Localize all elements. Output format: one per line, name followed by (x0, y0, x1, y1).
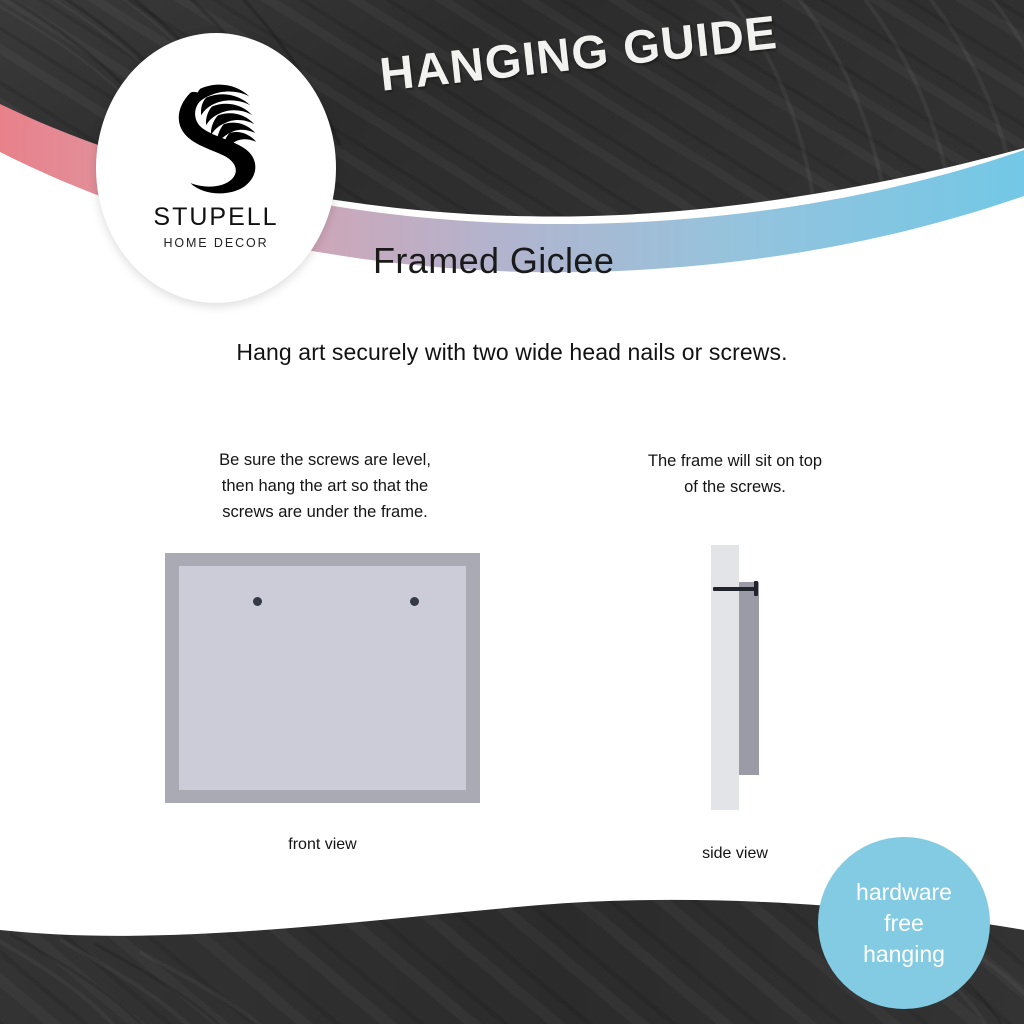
nail-shaft-icon (713, 587, 757, 591)
front-view-frame-diagram (165, 553, 480, 803)
brand-name: STUPELL (153, 203, 278, 232)
badge-line-1: hardware (856, 877, 952, 908)
stupell-swoosh-icon (157, 71, 275, 197)
nail-head-icon (754, 581, 758, 596)
side-caption-line-1: The frame will sit on top (610, 448, 860, 474)
side-view-diagram (700, 545, 820, 815)
badge-line-3: hanging (863, 939, 945, 970)
front-view-caption: Be sure the screws are level, then hang … (160, 447, 490, 525)
screw-dot-left-icon (253, 597, 262, 606)
hanging-guide-page: STUPELL HOME DECOR HANGING GUIDE Framed … (0, 0, 1024, 1024)
brand-logo-badge: STUPELL HOME DECOR (96, 33, 336, 303)
hardware-free-hanging-badge: hardware free hanging (818, 837, 990, 1009)
product-name: Framed Giclee (373, 240, 614, 282)
front-view-mat (179, 566, 466, 790)
side-view-label: side view (665, 845, 805, 863)
side-view-wall (711, 545, 739, 810)
front-caption-line-3: screws are under the frame. (160, 499, 490, 525)
badge-line-2: free (884, 908, 924, 939)
side-view-frame (739, 582, 759, 775)
front-caption-line-2: then hang the art so that the (160, 473, 490, 499)
page-title: HANGING GUIDE (377, 4, 780, 102)
front-view-label: front view (165, 836, 480, 854)
side-caption-line-2: of the screws. (610, 474, 860, 500)
front-caption-line-1: Be sure the screws are level, (160, 447, 490, 473)
lead-instruction: Hang art securely with two wide head nai… (0, 339, 1024, 366)
screw-dot-right-icon (410, 597, 419, 606)
side-view-caption: The frame will sit on top of the screws. (610, 448, 860, 500)
brand-tagline: HOME DECOR (163, 236, 268, 250)
